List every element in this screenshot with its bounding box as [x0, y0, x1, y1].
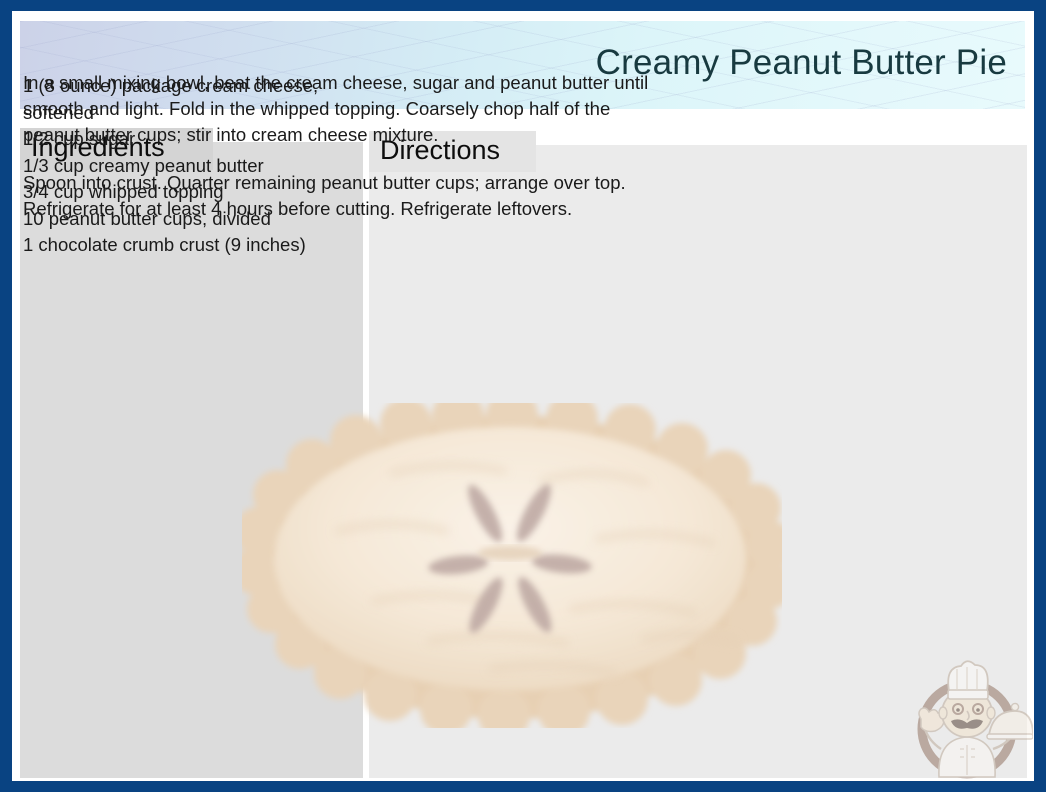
cloche-knob	[1011, 703, 1018, 710]
chef-hat	[948, 661, 988, 691]
cloche-tray	[987, 734, 1033, 739]
chef-pupil-left	[956, 708, 960, 712]
cloche-dome	[989, 711, 1033, 735]
directions-paragraph: Spoon into crust. Quarter remaining pean…	[23, 170, 671, 222]
chef-hat-band	[948, 690, 988, 699]
directions-paragraph: In a small mixing bowl, beat the cream c…	[23, 70, 671, 148]
chef-ear-right	[987, 707, 995, 719]
recipe-card: Creamy Peanut Butter Pie Ingredients 1 (…	[12, 11, 1034, 781]
chef-pupil-right	[976, 708, 980, 712]
chef-logo	[905, 657, 1033, 783]
list-item: 1 chocolate crumb crust (9 inches)	[23, 232, 353, 259]
directions-text: In a small mixing bowl, beat the cream c…	[23, 70, 671, 222]
chef-ear-left	[939, 707, 947, 719]
